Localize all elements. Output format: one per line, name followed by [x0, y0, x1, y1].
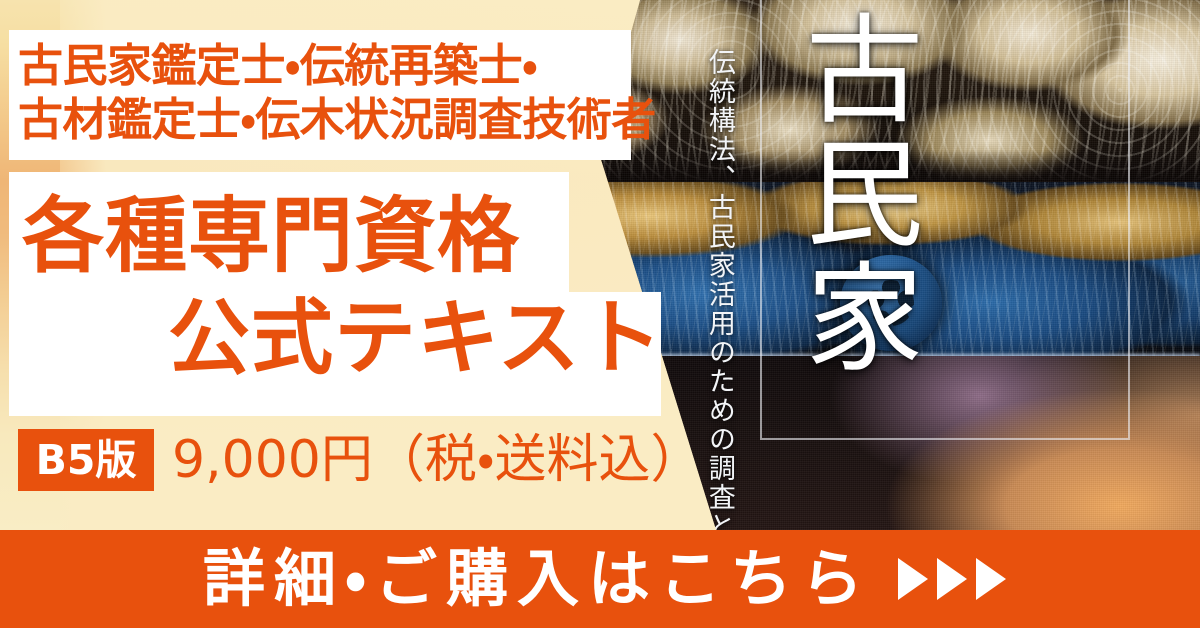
play-arrow-icon: [898, 558, 928, 600]
play-arrow-icon: [976, 558, 1006, 600]
play-arrow-icon: [937, 558, 967, 600]
certification-line-2: 古材鑑定士・伝木状況調査技術者: [18, 97, 656, 142]
headline-line-1: 各種専門資格: [22, 196, 520, 278]
book-cover-title: 古民家: [790, 8, 920, 380]
size-badge: B5版: [18, 429, 154, 491]
certification-line-1: 古民家鑑定士・伝統再築士・: [18, 43, 537, 88]
cta-arrows: [898, 558, 1006, 600]
promo-banner: 伝統構法、古民家活用のための調査と再生の 古民家 古民家鑑定士・伝統再築士・ 古…: [0, 0, 1200, 628]
price-text: 9,000円（税・送料込）: [172, 431, 703, 489]
headline-line-2: 公式テキスト: [168, 298, 664, 380]
cta-label: 詳細・ご購入はこちら: [194, 548, 872, 610]
book-cover-subtitle: 伝統構法、古民家活用のための調査と再生の: [703, 48, 735, 568]
cta-bar[interactable]: 詳細・ご購入はこちら: [0, 530, 1200, 628]
